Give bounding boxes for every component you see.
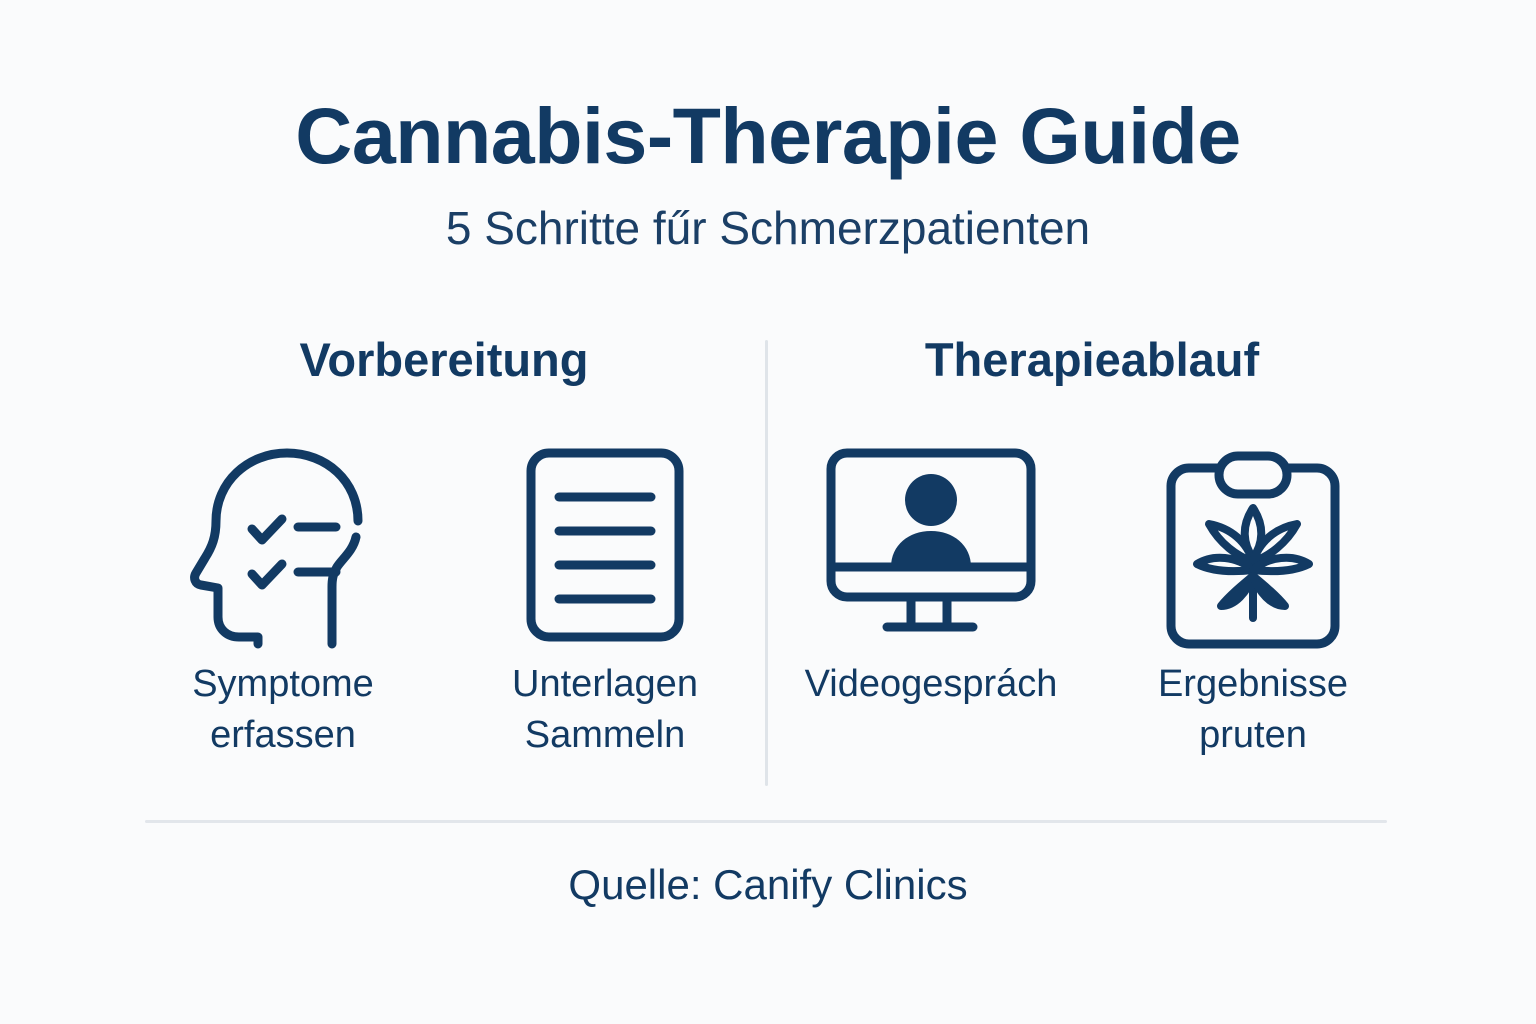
column-heading-therapieablauf: Therapieablauf <box>925 336 1259 383</box>
item-symptome-erfassen[interactable]: Symptome erfassen <box>158 445 408 760</box>
column-vorbereitung: Vorbereitung <box>120 336 768 796</box>
page-title: Cannabis-Therapie Guide <box>0 96 1536 175</box>
column-items-therapieablauf: Videogesprách <box>768 445 1416 760</box>
item-label: Unterlagen Sammeln <box>512 659 698 760</box>
item-unterlagen-sammeln[interactable]: Unterlagen Sammeln <box>480 445 730 760</box>
item-videogespraech[interactable]: Videogesprách <box>806 445 1056 710</box>
footer-divider <box>145 820 1387 823</box>
source-text: Quelle: Canify Clinics <box>0 864 1536 906</box>
column-therapieablauf: Therapieablauf <box>768 336 1416 796</box>
document-lines-icon <box>505 445 705 645</box>
column-heading-vorbereitung: Vorbereitung <box>300 336 589 383</box>
item-label: Videogesprách <box>805 659 1058 710</box>
item-label: Symptome erfassen <box>192 659 374 760</box>
head-checklist-icon <box>183 445 383 645</box>
item-ergebnisse-pruefen[interactable]: Ergebnisse pruten <box>1128 445 1378 760</box>
column-items-vorbereitung: Symptome erfassen <box>120 445 768 760</box>
columns-container: Vorbereitung <box>120 336 1416 796</box>
infographic-canvas: Cannabis-Therapie Guide 5 Schritte fűr S… <box>0 0 1536 1024</box>
header: Cannabis-Therapie Guide 5 Schritte fűr S… <box>0 96 1536 251</box>
footer: Quelle: Canify Clinics <box>0 864 1536 906</box>
item-label: Ergebnisse pruten <box>1158 659 1348 760</box>
page-subtitle: 5 Schritte fűr Schmerzpatienten <box>0 205 1536 251</box>
monitor-person-icon <box>831 445 1031 645</box>
clipboard-cannabis-leaf-icon <box>1153 445 1353 645</box>
